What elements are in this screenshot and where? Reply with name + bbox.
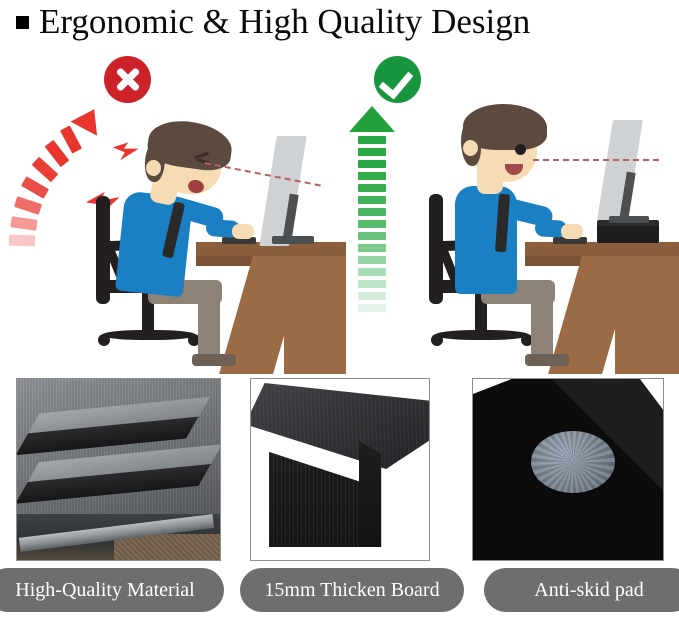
hand — [232, 224, 254, 239]
x-mark-badge-icon — [104, 56, 151, 103]
desk-panel — [284, 256, 346, 374]
check-mark-badge-icon — [374, 56, 421, 103]
monitor-foot — [272, 236, 314, 244]
check-stroke — [378, 63, 413, 100]
page-title-bar: Ergonomic & High Quality Design — [0, 0, 679, 44]
level-sight-line — [533, 159, 659, 161]
ear — [463, 140, 478, 156]
ear — [146, 160, 161, 176]
desk-panel — [615, 256, 679, 374]
shin — [198, 290, 220, 364]
caption-pill-antiskid: Anti-skid pad — [484, 568, 679, 612]
desk-top — [525, 242, 679, 256]
chair-base — [102, 330, 196, 340]
photo-stacked-boards — [16, 378, 221, 561]
monitor-foot — [609, 216, 649, 223]
caption-row: High-Quality Material 15mm Thicken Board… — [0, 568, 679, 614]
eye-open — [515, 144, 526, 155]
chair-caster-left — [98, 334, 110, 346]
chair-base — [435, 330, 529, 340]
page-title: Ergonomic & High Quality Design — [39, 3, 530, 41]
felt-anti-skid-pad — [531, 431, 615, 493]
photo-board-corner — [250, 378, 430, 561]
up-arrow-head — [349, 106, 395, 132]
scene-bad-posture — [0, 44, 340, 374]
shoe — [525, 354, 569, 366]
monitor-screen — [597, 120, 643, 220]
green-up-arrow-icon — [349, 106, 395, 326]
caption-pill-thickness: 15mm Thicken Board — [240, 568, 464, 612]
downward-sight-line — [205, 162, 321, 186]
caption-pill-material: High-Quality Material — [0, 568, 224, 612]
shin — [531, 290, 553, 364]
chair-caster-left — [431, 334, 443, 346]
red-pain-arc-icon — [8, 104, 138, 254]
hand — [561, 224, 583, 239]
scene-good-posture — [339, 44, 679, 374]
product-photo-row — [0, 378, 679, 563]
pain-arrow-head — [71, 102, 108, 136]
posture-comparison-illustrations — [0, 44, 679, 374]
square-bullet-icon — [16, 16, 29, 29]
monitor-riser — [597, 224, 659, 243]
pain-bolt-1 — [111, 140, 139, 162]
shoe — [192, 354, 236, 366]
photo-felt-pad — [472, 378, 664, 561]
